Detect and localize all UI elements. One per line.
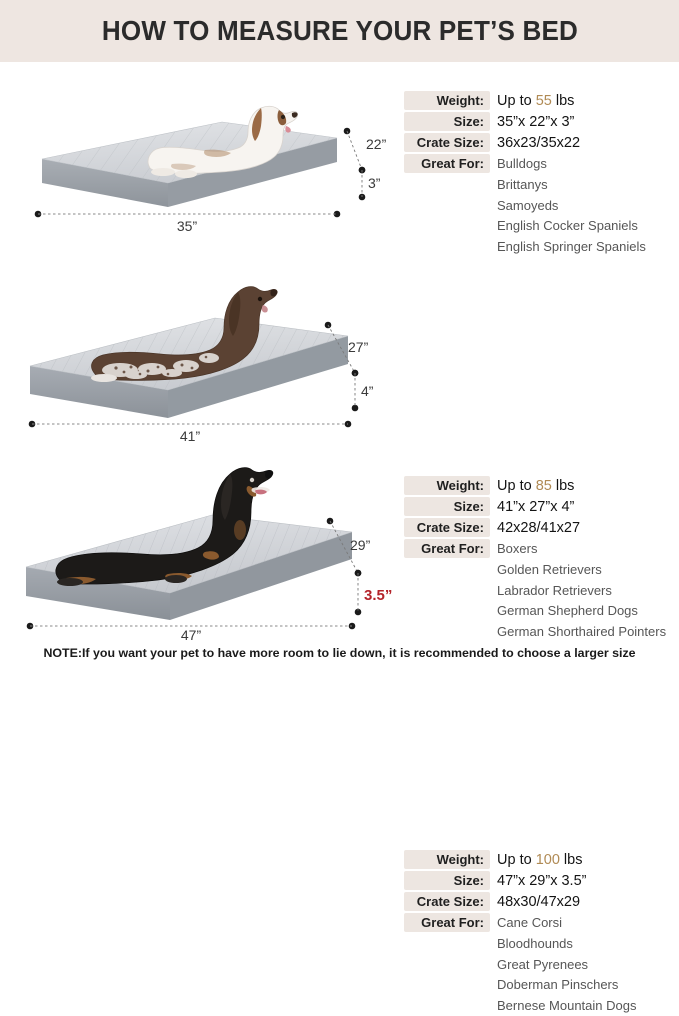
page-title: HOW TO MEASURE YOUR PET’S BED — [101, 15, 577, 47]
dimension-height-label: 3.5” — [364, 587, 392, 604]
spec-crate-row: Crate Size: 48x30/47x29 — [404, 892, 679, 913]
breed-item: Great Pyrenees — [497, 955, 679, 976]
spec-weight-value: Up to 55 lbs — [490, 91, 574, 111]
breed-list: Brittanys Samoyeds English Cocker Spanie… — [404, 175, 679, 257]
breed-item: Doberman Pinschers — [497, 975, 679, 996]
spec-weight-row: Weight: Up to 100 lbs — [404, 850, 679, 871]
dimension-width: 35” — [35, 211, 341, 234]
size-row: 27” 4” 41” Weight: — [0, 254, 679, 444]
spec-crate-label: Crate Size: — [404, 133, 490, 152]
dimension-depth-label: 27” — [348, 339, 369, 355]
spec-crate-value: 36x23/35x22 — [490, 133, 580, 153]
dimension-depth: 22” — [344, 128, 387, 174]
breed-item: English Cocker Spaniels — [497, 216, 679, 237]
weight-suffix: lbs — [560, 852, 583, 868]
size-row: 22” 3” 35” Weight: — [0, 64, 679, 254]
spec-weight-label: Weight: — [404, 850, 490, 869]
dimension-width: 47” — [27, 623, 356, 640]
spec-crate-label: Crate Size: — [404, 892, 490, 911]
footer-note: NOTE:If you want your pet to have more r… — [0, 646, 679, 660]
spec-greatfor-row: Great For: Bulldogs — [404, 154, 679, 175]
spec-greatfor-label: Great For: — [404, 913, 490, 932]
spec-greatfor-label: Great For: — [404, 154, 490, 173]
spec-crate-row: Crate Size: 36x23/35x22 — [404, 133, 679, 154]
weight-number: 55 — [536, 93, 552, 109]
weight-number: 100 — [536, 852, 560, 868]
size-row: 29” 3.5” 47” Weigh — [0, 440, 679, 630]
breed-list: Bloodhounds Great Pyrenees Doberman Pins… — [404, 934, 679, 1016]
weight-prefix: Up to — [497, 93, 536, 109]
breed-item: Bloodhounds — [497, 934, 679, 955]
dimension-depth-label: 22” — [366, 136, 387, 152]
breed-item: Samoyeds — [497, 196, 679, 217]
dimension-height: 3” — [359, 167, 381, 201]
spec-size-row: Size: 47”x 29”x 3.5” — [404, 871, 679, 892]
spec-size-label: Size: — [404, 871, 490, 890]
weight-suffix: lbs — [552, 93, 575, 109]
spec-block: Weight: Up to 55 lbs Size: 35”x 22”x 3” … — [404, 91, 679, 257]
spec-size-label: Size: — [404, 112, 490, 131]
breed-item: Bulldogs — [490, 154, 547, 174]
breed-item: Bernese Mountain Dogs — [497, 996, 679, 1016]
dimension-width-label: 35” — [177, 218, 198, 234]
spec-weight-label: Weight: — [404, 91, 490, 110]
spec-weight-row: Weight: Up to 55 lbs — [404, 91, 679, 112]
bed-diagram-svg: 29” 3.5” 47” — [0, 440, 400, 640]
size-comparison-rows: 22” 3” 35” Weight: — [0, 62, 679, 640]
bed-diagram-svg: 22” 3” 35” — [0, 64, 400, 254]
spec-crate-value: 48x30/47x29 — [490, 892, 580, 912]
spec-size-row: Size: 35”x 22”x 3” — [404, 112, 679, 133]
breed-item: Brittanys — [497, 175, 679, 196]
dimension-height-label: 4” — [361, 383, 374, 399]
dimension-height: 3.5” — [355, 570, 393, 616]
spec-weight-value: Up to 100 lbs — [490, 850, 582, 870]
bed-diagram-svg: 27” 4” 41” — [0, 254, 400, 444]
spec-size-value: 47”x 29”x 3.5” — [490, 871, 586, 891]
bed-illustration: 29” 3.5” 47” — [0, 440, 400, 630]
bed-illustration: 27” 4” 41” — [0, 254, 400, 444]
spec-block: Weight: Up to 100 lbs Size: 47”x 29”x 3.… — [404, 850, 679, 1016]
breed-item: Cane Corsi — [490, 913, 562, 933]
dimension-depth-label: 29” — [350, 537, 371, 553]
dimension-height: 4” — [352, 370, 374, 412]
bed-illustration: 22” 3” 35” — [0, 64, 400, 254]
weight-prefix: Up to — [497, 852, 536, 868]
dimension-width-label: 47” — [181, 627, 202, 640]
dimension-height-label: 3” — [368, 175, 381, 191]
spec-greatfor-row: Great For: Cane Corsi — [404, 913, 679, 934]
spec-size-value: 35”x 22”x 3” — [490, 112, 574, 132]
header-banner: HOW TO MEASURE YOUR PET’S BED — [0, 0, 679, 62]
